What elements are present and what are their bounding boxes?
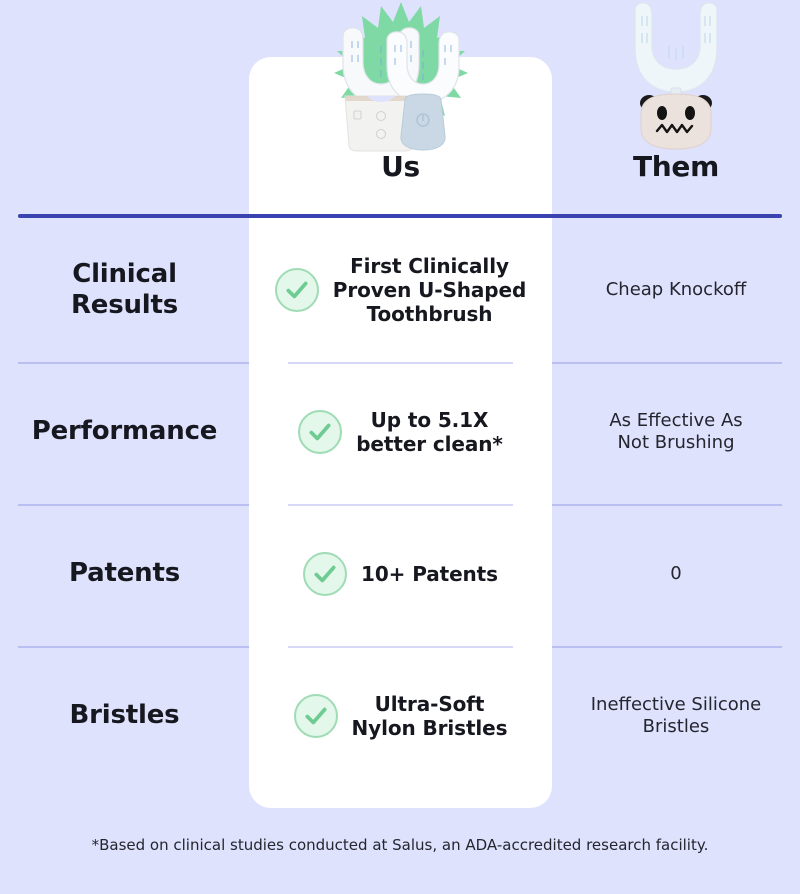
feature-line: Bristles [70, 700, 180, 730]
row-divider-mid [288, 646, 513, 648]
row-divider-right [552, 646, 782, 648]
row-divider-mid [288, 362, 513, 364]
header-divider [18, 214, 782, 218]
feature-line: Results [71, 290, 178, 320]
row-divider-left [18, 504, 249, 506]
us-value-line: Proven U-Shaped [333, 278, 526, 302]
them-value: Cheap Knockoff [594, 279, 759, 302]
check-circle-icon [275, 268, 319, 312]
feature-line: Performance [32, 416, 218, 446]
feature-label-clinical-results: Clinical Results [0, 219, 249, 361]
them-cell-performance: As Effective As Not Brushing [552, 361, 800, 503]
comparison-table: Us [0, 0, 800, 894]
us-value-line: 10+ Patents [361, 562, 498, 586]
us-value-line: First Clinically [350, 254, 509, 278]
row-divider-left [18, 362, 249, 364]
us-value-line: Toothbrush [367, 302, 493, 326]
us-product-image [249, 0, 552, 152]
check-circle-icon [294, 694, 338, 738]
table-row: Clinical Results First Clinically Proven… [0, 219, 800, 361]
feature-line: Clinical [72, 259, 177, 289]
toothbrush-handle-blue [400, 94, 444, 150]
us-value-line: Nylon Bristles [352, 716, 508, 740]
us-value-line: Up to 5.1X [371, 408, 489, 432]
us-cell-bristles: Ultra-Soft Nylon Bristles [249, 645, 552, 787]
feature-label-patents: Patents [0, 503, 249, 645]
header-label-them: Them [552, 150, 800, 183]
us-cell-patents: 10+ Patents [249, 503, 552, 645]
them-value-line: Ineffective Silicone [591, 694, 762, 715]
silicone-u-brush-head-icon [635, 3, 717, 98]
us-value-line: Ultra-Soft [375, 692, 485, 716]
row-divider-right [552, 362, 782, 364]
header-cell-us: Us [249, 0, 552, 205]
them-value: 0 [658, 563, 693, 586]
footnote: *Based on clinical studies conducted at … [0, 836, 800, 854]
us-cell-clinical-results: First Clinically Proven U-Shaped Toothbr… [249, 219, 552, 361]
table-row: Patents 10+ Patents 0 [0, 503, 800, 645]
them-value-line: Bristles [643, 716, 710, 737]
feature-line: Patents [69, 558, 180, 588]
check-circle-icon [298, 410, 342, 454]
row-divider-right [552, 504, 782, 506]
them-cell-patents: 0 [552, 503, 800, 645]
feature-label-bristles: Bristles [0, 645, 249, 787]
table-row: Bristles Ultra-Soft Nylon Bristles Ineff… [0, 645, 800, 787]
them-cell-clinical-results: Cheap Knockoff [552, 219, 800, 361]
us-value-line: better clean* [356, 432, 503, 456]
table-header: Us [0, 0, 800, 216]
them-product-image [552, 0, 800, 152]
row-divider-left [18, 646, 249, 648]
header-label-us: Us [249, 150, 552, 183]
us-cell-performance: Up to 5.1X better clean* [249, 361, 552, 503]
check-circle-icon [303, 552, 347, 596]
them-value-line: As Effective As [609, 410, 742, 431]
table-row: Performance Up to 5.1X better clean* As … [0, 361, 800, 503]
feature-label-performance: Performance [0, 361, 249, 503]
header-cell-them: Them [552, 0, 800, 205]
them-cell-bristles: Ineffective Silicone Bristles [552, 645, 800, 787]
row-divider-mid [288, 504, 513, 506]
them-value-line: Not Brushing [617, 432, 734, 453]
panda-face-handle-icon [640, 94, 712, 149]
